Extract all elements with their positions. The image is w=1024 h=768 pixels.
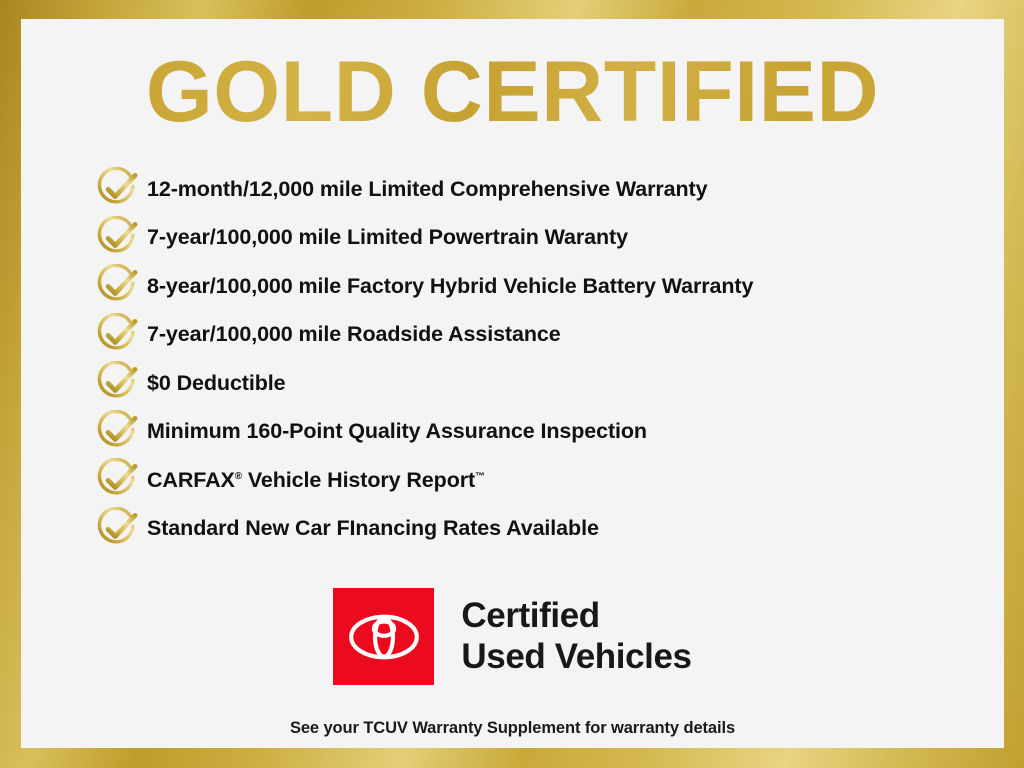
feature-label: Standard New Car FInancing Rates Availab… xyxy=(147,516,599,541)
list-item: $0 Deductible xyxy=(95,359,995,408)
list-item: CARFAX® Vehicle History Report™ xyxy=(95,456,995,505)
registered-mark: ® xyxy=(235,471,242,482)
carfax-wordmark: CARFAX xyxy=(147,468,235,492)
trademark-mark: ™ xyxy=(475,471,485,482)
list-item: 12-month/12,000 mile Limited Comprehensi… xyxy=(95,165,995,214)
check-circle-icon xyxy=(95,410,147,454)
list-item: 7-year/100,000 mile Limited Powertrain W… xyxy=(95,214,995,263)
feature-label-carfax: CARFAX® Vehicle History Report™ xyxy=(147,468,485,493)
feature-label: 7-year/100,000 mile Limited Powertrain W… xyxy=(147,225,628,250)
page-title: GOLD CERTIFIED xyxy=(21,19,1004,135)
lockup-text: Certified Used Vehicles xyxy=(461,596,691,677)
check-circle-icon xyxy=(95,216,147,260)
lockup-line-2: Used Vehicles xyxy=(461,637,691,678)
check-circle-icon xyxy=(95,313,147,357)
feature-label: 7-year/100,000 mile Roadside Assistance xyxy=(147,322,561,347)
check-circle-icon xyxy=(95,507,147,551)
list-item: 8-year/100,000 mile Factory Hybrid Vehic… xyxy=(95,262,995,311)
warranty-footnote: See your TCUV Warranty Supplement for wa… xyxy=(21,719,1004,738)
toyota-emblem-icon xyxy=(333,588,434,685)
gold-certified-badge: GOLD CERTIFIED 12-mont xyxy=(0,0,1024,768)
lockup-line-1: Certified xyxy=(461,596,691,637)
feature-label: 8-year/100,000 mile Factory Hybrid Vehic… xyxy=(147,274,753,299)
list-item: 7-year/100,000 mile Roadside Assistance xyxy=(95,311,995,360)
toyota-certified-used-vehicles-lockup: Certified Used Vehicles xyxy=(21,588,1004,685)
feature-list: 12-month/12,000 mile Limited Comprehensi… xyxy=(95,165,995,553)
feature-label: 12-month/12,000 mile Limited Comprehensi… xyxy=(147,177,707,202)
check-circle-icon xyxy=(95,264,147,308)
check-circle-icon xyxy=(95,458,147,502)
check-circle-icon xyxy=(95,361,147,405)
check-circle-icon xyxy=(95,167,147,211)
list-item: Minimum 160-Point Quality Assurance Insp… xyxy=(95,408,995,457)
carfax-report-label: Vehicle History Report xyxy=(242,468,475,492)
feature-label: Minimum 160-Point Quality Assurance Insp… xyxy=(147,419,647,444)
badge-card: GOLD CERTIFIED 12-mont xyxy=(21,19,1004,748)
feature-label: $0 Deductible xyxy=(147,371,286,396)
list-item: Standard New Car FInancing Rates Availab… xyxy=(95,505,995,554)
